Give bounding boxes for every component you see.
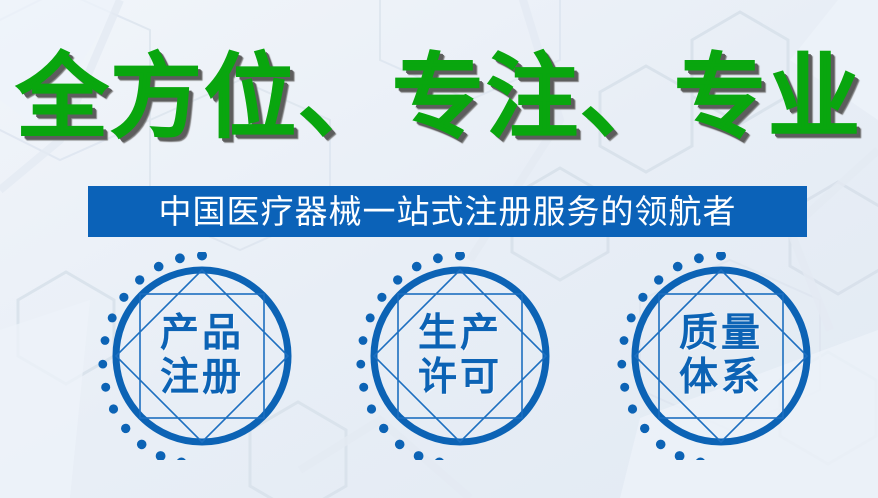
badge-label: 生产 许可: [354, 252, 566, 460]
badge-label-line2: 注册: [160, 356, 244, 400]
promo-banner: 全方位、专注、专业 中国医疗器械一站式注册服务的领航者: [0, 0, 878, 498]
service-badge-group: 产品 注册: [0, 252, 878, 462]
badge-label-line1: 质量: [679, 312, 763, 356]
badge-label: 质量 体系: [615, 252, 827, 460]
badge-label-line2: 许可: [418, 356, 502, 400]
badge-label-line1: 产品: [160, 312, 244, 356]
badge-label: 产品 注册: [96, 252, 308, 460]
page-title: 全方位、专注、专业: [0, 52, 878, 144]
service-badge-quality-system[interactable]: 质量 体系: [615, 252, 827, 460]
service-badge-product-registration[interactable]: 产品 注册: [96, 252, 308, 460]
subtitle-text: 中国医疗器械一站式注册服务的领航者: [159, 195, 737, 228]
subtitle-bar: 中国医疗器械一站式注册服务的领航者: [88, 186, 807, 237]
badge-label-line1: 生产: [418, 312, 502, 356]
badge-label-line2: 体系: [679, 356, 763, 400]
service-badge-production-license[interactable]: 生产 许可: [354, 252, 566, 460]
